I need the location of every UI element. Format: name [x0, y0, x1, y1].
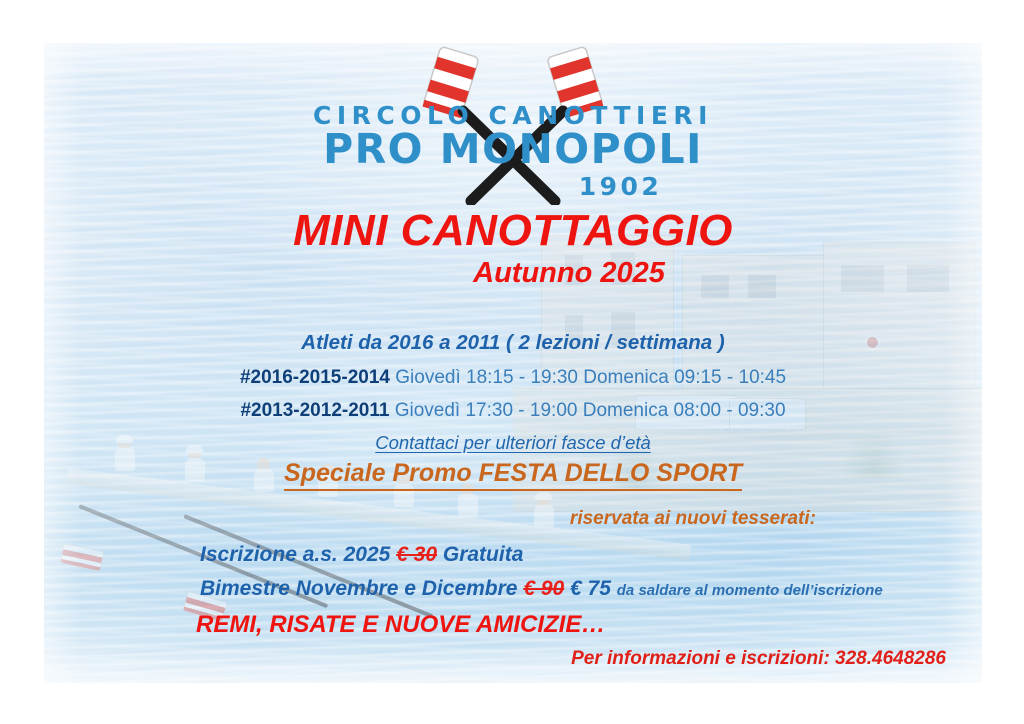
poster-content: CIRCOLO CANOTTIERI PRO MONOPOLI 1902 MIN… — [44, 43, 982, 683]
club-logo-text: CIRCOLO CANOTTIERI PRO MONOPOLI 1902 — [44, 103, 982, 199]
promo-title-text: Speciale Promo FESTA DELLO SPORT — [284, 459, 742, 491]
price-old: € 90 — [523, 577, 564, 600]
club-logo: CIRCOLO CANOTTIERI PRO MONOPOLI 1902 — [44, 45, 982, 205]
poster: CIRCOLO CANOTTIERI PRO MONOPOLI 1902 MIN… — [44, 43, 982, 683]
headline-block: MINI CANOTTAGGIO Autunno 2025 — [44, 209, 982, 288]
price-new: € 75 — [570, 577, 611, 600]
poster-subtitle: Autunno 2025 — [156, 258, 982, 288]
schedule-times: Giovedì 17:30 - 19:00 Domenica 08:00 - 0… — [395, 400, 786, 421]
poster-canvas: CIRCOLO CANOTTIERI PRO MONOPOLI 1902 MIN… — [0, 0, 1024, 724]
schedule-row: #2016-2015-2014 Giovedì 18:15 - 19:30 Do… — [44, 368, 982, 387]
price-label: Bimestre Novembre e Dicembre — [200, 577, 517, 600]
club-name-line2: PRO MONOPOLI — [44, 129, 982, 171]
schedule-age-groups: #2016-2015-2014 — [240, 367, 390, 388]
schedule-times: Giovedì 18:15 - 19:30 Domenica 09:15 - 1… — [395, 367, 786, 388]
promo-subtitle: riservata ai nuovi tesserati: — [570, 509, 816, 528]
poster-slogan: REMI, RISATE E NUOVE AMICIZIE… — [196, 613, 605, 637]
schedule-block: Atleti da 2016 a 2011 ( 2 lezioni / sett… — [44, 333, 982, 452]
schedule-age-groups: #2013-2012-2011 — [240, 400, 389, 421]
price-old: € 30 — [396, 543, 437, 566]
promo-title: Speciale Promo FESTA DELLO SPORT — [44, 461, 982, 486]
price-row: Iscrizione a.s. 2025 € 30 Gratuita — [200, 544, 523, 565]
price-fineprint: da saldare al momento dell’iscrizione — [617, 582, 883, 599]
schedule-row: #2013-2012-2011 Giovedì 17:30 - 19:00 Do… — [44, 401, 982, 420]
contact-info: Per informazioni e iscrizioni: 328.46482… — [571, 649, 946, 668]
schedule-contact-note: Contattaci per ulteriori fasce d’età — [44, 434, 982, 453]
poster-title: MINI CANOTTAGGIO — [44, 209, 982, 254]
price-row: Bimestre Novembre e Dicembre € 90 € 75 d… — [200, 578, 883, 599]
price-label: Iscrizione a.s. 2025 — [200, 543, 390, 566]
price-new: Gratuita — [443, 543, 524, 566]
schedule-heading: Atleti da 2016 a 2011 ( 2 lezioni / sett… — [44, 333, 982, 354]
club-founded-year: 1902 — [259, 174, 982, 199]
